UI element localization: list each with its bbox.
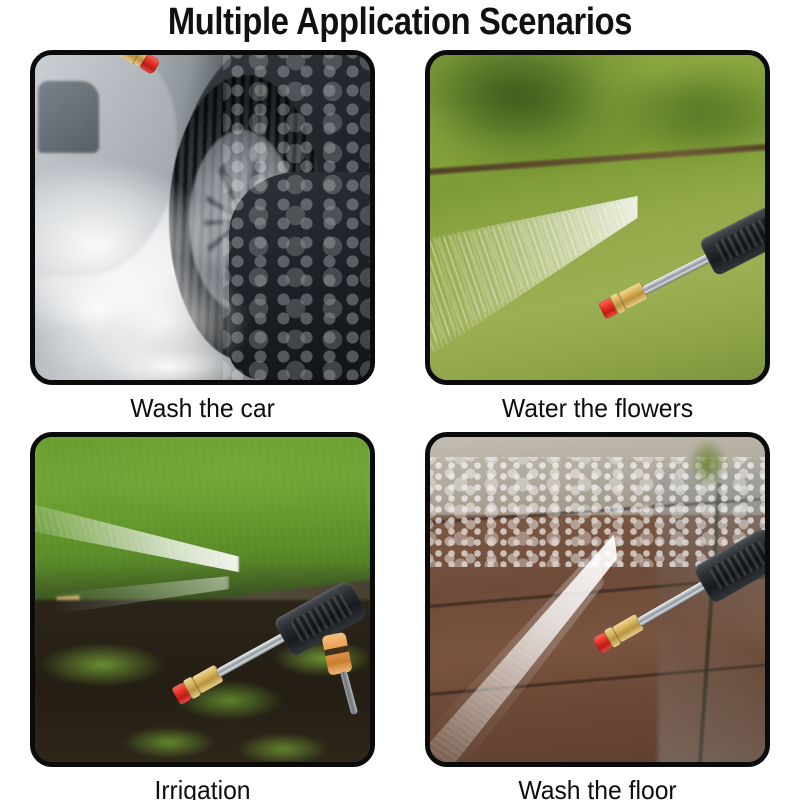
photo-wash-the-car xyxy=(35,55,370,380)
photo-frame-water-the-flowers xyxy=(425,50,770,385)
photo-wash-the-floor xyxy=(430,437,765,762)
scenario-card-wash-the-floor[interactable]: Wash the floor xyxy=(425,432,770,800)
scenario-card-water-the-flowers[interactable]: Water the flowers xyxy=(425,50,770,425)
photo-frame-wash-the-car xyxy=(30,50,375,385)
photo-irrigation xyxy=(35,437,370,762)
photo-frame-irrigation xyxy=(30,432,375,767)
water-jet xyxy=(430,535,618,763)
caption-water-the-flowers: Water the flowers xyxy=(434,391,762,425)
lance-shaft xyxy=(216,631,290,678)
page-title: Multiple Application Scenarios xyxy=(56,0,744,46)
lance-shaft xyxy=(641,252,715,295)
scenario-grid: Wash the car xyxy=(0,50,800,800)
infographic-page: Multiple Application Scenarios xyxy=(0,0,800,800)
caption-wash-the-floor: Wash the floor xyxy=(434,773,762,800)
water-droplets xyxy=(223,55,370,380)
hose-connector xyxy=(321,632,352,676)
caption-irrigation: Irrigation xyxy=(39,773,367,800)
lance-shaft xyxy=(636,579,710,627)
photo-frame-wash-the-floor xyxy=(425,432,770,767)
caption-wash-the-car: Wash the car xyxy=(39,391,367,425)
moss-patch xyxy=(688,437,728,489)
scenario-card-irrigation[interactable]: Irrigation xyxy=(30,432,375,800)
scenario-card-wash-the-car[interactable]: Wash the car xyxy=(30,50,375,425)
blurred-foliage-left xyxy=(430,55,614,153)
blurred-foliage-right xyxy=(608,62,765,160)
wand-grip xyxy=(698,203,765,277)
photo-water-the-flowers xyxy=(430,55,765,380)
